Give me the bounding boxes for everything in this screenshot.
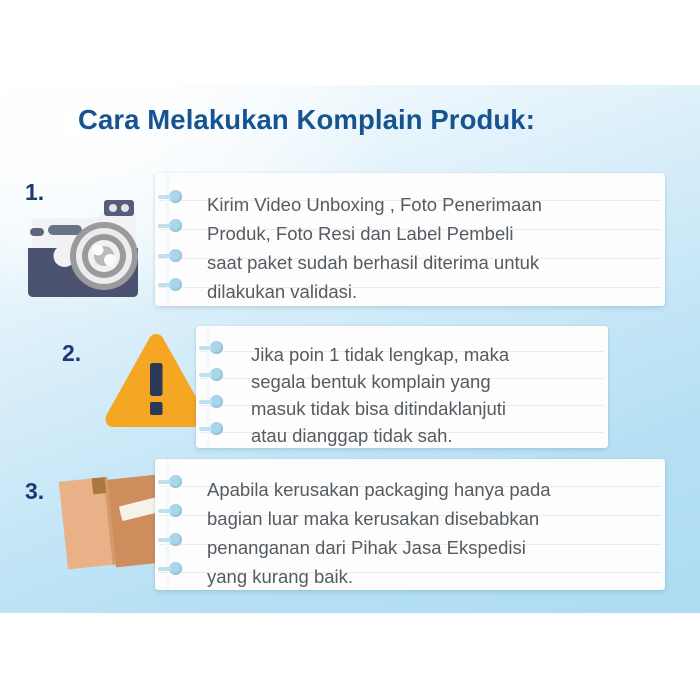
infographic-canvas: Cara Melakukan Komplain Produk: 1. [0,0,700,700]
camera-icon [18,192,148,302]
step-3-text: Apabila kerusakan packaging hanya pada b… [207,475,657,590]
binding-ring [169,278,182,291]
binding-ring [210,395,223,408]
step-1-text: Kirim Video Unboxing , Foto Penerimaan P… [207,190,657,306]
step-3-number: 3. [25,478,44,505]
binding-ring [210,422,223,435]
binding-ring [169,190,182,203]
binding-ring [169,533,182,546]
binding-ring [169,219,182,232]
card-spiral-binding [155,173,189,306]
binding-ring [169,562,182,575]
page-title: Cara Melakukan Komplain Produk: [78,104,535,136]
step-3-card: Apabila kerusakan packaging hanya pada b… [155,459,665,590]
binding-ring [210,341,223,354]
step-1-card: Kirim Video Unboxing , Foto Penerimaan P… [155,173,665,306]
binding-ring [210,368,223,381]
step-2-card: Jika poin 1 tidak lengkap, maka segala b… [196,326,608,448]
binding-ring [169,475,182,488]
card-spiral-binding [196,326,230,448]
card-spiral-binding [155,459,189,590]
step-2-text: Jika poin 1 tidak lengkap, maka segala b… [251,341,600,448]
step-2-number: 2. [62,340,81,367]
binding-ring [169,504,182,517]
binding-ring [169,249,182,262]
